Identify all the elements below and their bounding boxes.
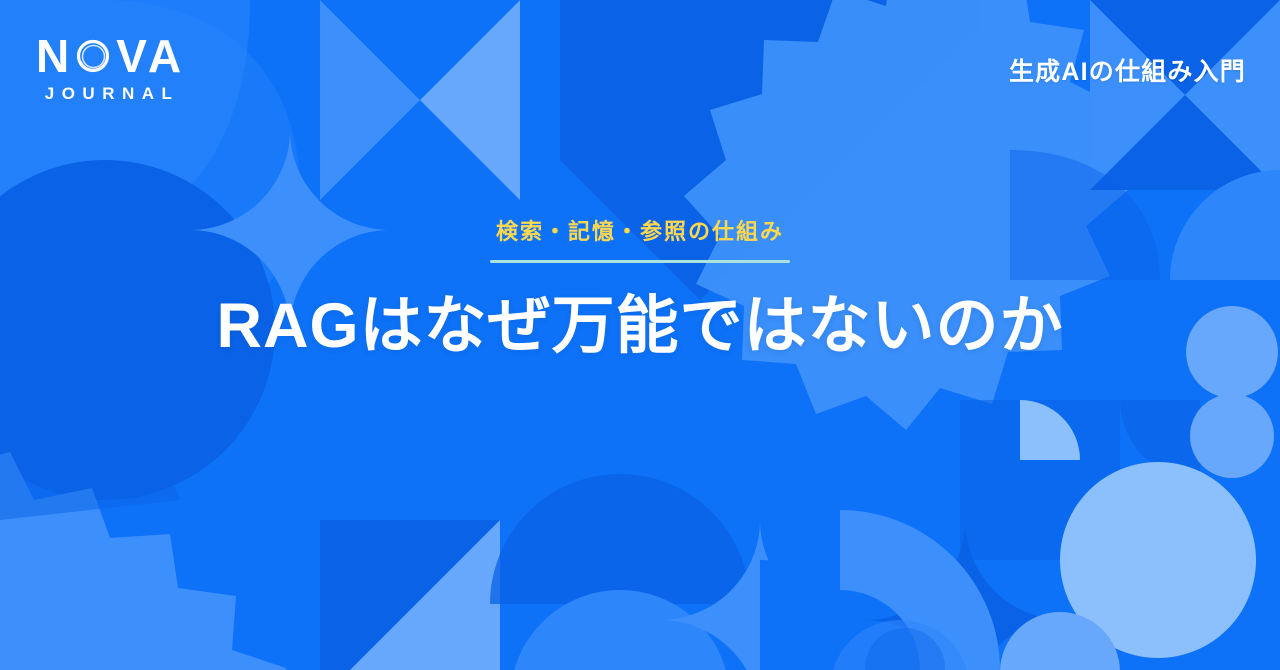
hero-text-block: 検索・記憶・参照の仕組み RAGはなぜ万能ではないのか bbox=[0, 214, 1280, 362]
hero-eyebrow-rule bbox=[490, 260, 790, 263]
logo-ring-o-icon bbox=[71, 34, 115, 78]
series-label: 生成AIの仕組み入門 bbox=[1009, 52, 1246, 88]
logo-letter-a: A bbox=[148, 34, 182, 78]
hero-eyebrow: 検索・記憶・参照の仕組み bbox=[496, 214, 784, 260]
logo-letter-n: N bbox=[36, 34, 70, 78]
ring-icon bbox=[71, 34, 115, 78]
hero-banner: N V A JOURNAL 生成AIの仕組み入門 検索・記憶・参照の仕組み RA… bbox=[0, 0, 1280, 670]
logo-wordmark: N V A bbox=[36, 34, 182, 78]
logo-letter-v: V bbox=[116, 34, 148, 78]
brand-logo[interactable]: N V A JOURNAL bbox=[36, 34, 182, 104]
logo-tagline: JOURNAL bbox=[36, 84, 182, 104]
shape-circle-bottomright-small bbox=[1190, 394, 1274, 478]
hero-headline: RAGはなぜ万能ではないのか bbox=[0, 291, 1280, 362]
